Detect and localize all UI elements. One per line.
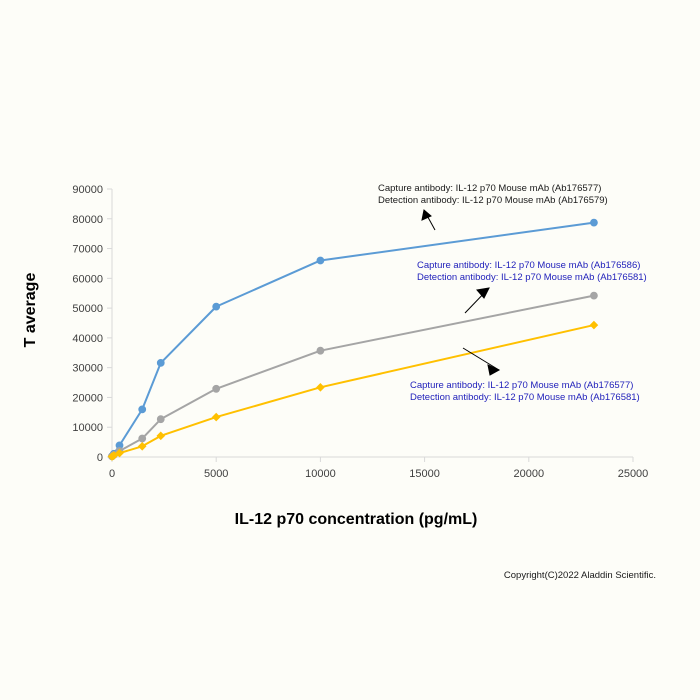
annotation-arrow-1 [422, 210, 435, 230]
chart-container: 0100002000030000400005000060000700008000… [0, 0, 700, 700]
series-line [112, 223, 594, 456]
data-point [139, 406, 146, 413]
annotation-capture-586-detection-581-line2: Detection antibody: IL-12 p70 Mouse mAb … [417, 272, 647, 283]
y-tick-label: 60000 [72, 273, 103, 285]
y-axis-title: T average [22, 273, 39, 348]
data-point [213, 303, 220, 310]
annotation-capture-577-detection-581-line2: Detection antibody: IL-12 p70 Mouse mAb … [410, 392, 640, 403]
data-point [317, 257, 324, 264]
x-axis-title: IL-12 p70 concentration (pg/mL) [235, 511, 478, 528]
annotation-capture-577-detection-579-line2: Detection antibody: IL-12 p70 Mouse mAb … [378, 195, 608, 206]
annotation-capture-586-detection-581-line1: Capture antibody: IL-12 p70 Mouse mAb (A… [417, 260, 640, 271]
data-point [213, 385, 220, 392]
copyright-notice: Copyright(C)2022 Aladdin Scientific. [504, 570, 656, 581]
series-ab176586-ab176581 [109, 292, 598, 460]
data-point [591, 292, 598, 299]
line-chart: 0100002000030000400005000060000700008000… [0, 0, 700, 700]
y-tick-label: 70000 [72, 244, 103, 256]
data-point [317, 384, 324, 391]
annotation-layer: Capture antibody: IL-12 p70 Mouse mAb (A… [378, 183, 647, 403]
y-axis-ticks: 0100002000030000400005000060000700008000… [72, 184, 112, 464]
y-tick-label: 50000 [72, 303, 103, 315]
x-axis-ticks: 0500010000150002000025000 [109, 457, 648, 480]
annotation-arrow-3 [463, 348, 499, 375]
y-tick-label: 30000 [72, 363, 103, 375]
annotation-capture-577-detection-581-line1: Capture antibody: IL-12 p70 Mouse mAb (A… [410, 380, 633, 391]
data-point [213, 413, 220, 420]
data-point [157, 360, 164, 367]
y-tick-label: 40000 [72, 333, 103, 345]
data-point [591, 219, 598, 226]
series-layer [108, 219, 597, 460]
x-tick-label: 10000 [305, 468, 336, 480]
x-tick-label: 20000 [514, 468, 545, 480]
data-point [139, 435, 146, 442]
data-point [590, 321, 597, 328]
annotation-capture-577-detection-579-line1: Capture antibody: IL-12 p70 Mouse mAb (A… [378, 183, 601, 194]
y-tick-label: 10000 [72, 422, 103, 434]
x-tick-label: 25000 [618, 468, 649, 480]
x-tick-label: 15000 [409, 468, 440, 480]
data-point [317, 347, 324, 354]
y-tick-label: 90000 [72, 184, 103, 196]
y-tick-label: 20000 [72, 392, 103, 404]
series-ab176577-ab176579 [109, 219, 598, 459]
x-tick-label: 0 [109, 468, 115, 480]
y-tick-label: 80000 [72, 214, 103, 226]
data-point [157, 416, 164, 423]
annotation-arrow-2 [465, 288, 489, 313]
x-tick-label: 5000 [204, 468, 228, 480]
y-tick-label: 0 [97, 452, 103, 464]
series-line [112, 296, 594, 457]
